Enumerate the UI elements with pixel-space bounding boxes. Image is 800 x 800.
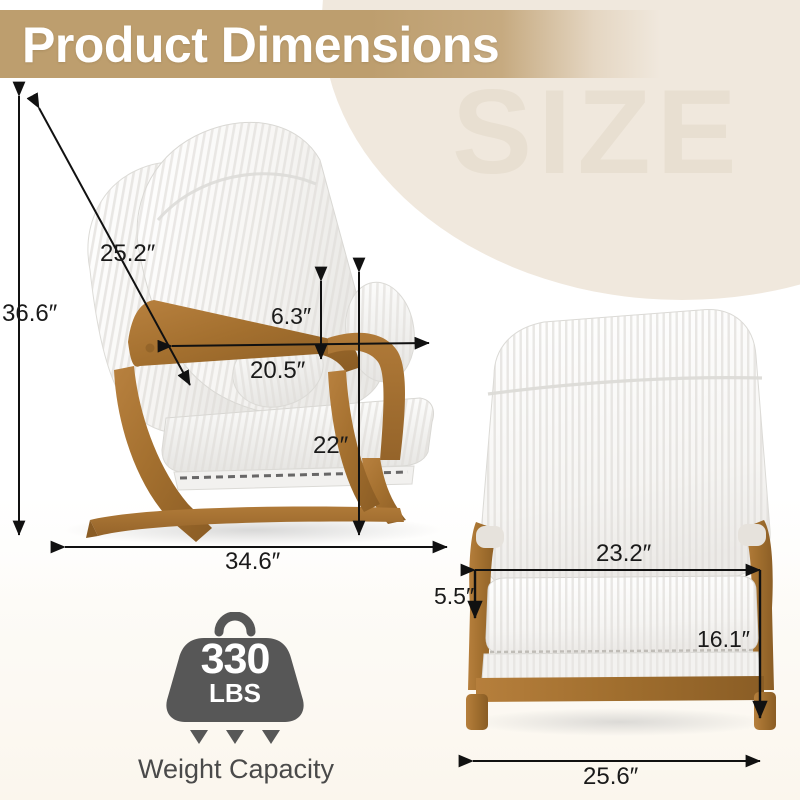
weight-capacity-unit: LBS (120, 680, 350, 706)
dim-arm-to-seat-height: 6.3″ (271, 303, 311, 330)
chair-front-view (448, 290, 788, 740)
dim-seat-width: 23.2″ (596, 540, 651, 568)
dim-cushion-thickness: 5.5″ (434, 583, 474, 610)
dim-backrest-height: 25.2″ (100, 240, 155, 268)
chair-side-view (28, 80, 448, 550)
size-watermark-text: SIZE (452, 72, 743, 192)
dim-overall-height: 36.6″ (2, 300, 57, 328)
weight-capacity-number: 330 (120, 638, 350, 681)
dim-seat-height: 16.1″ (697, 626, 750, 653)
weight-capacity-block: 330 LBS Weight Capacity (120, 612, 420, 792)
weight-capacity-caption: Weight Capacity (102, 756, 370, 783)
dim-overall-depth: 34.6″ (225, 548, 280, 576)
dim-arm-height: 22″ (313, 432, 348, 460)
page-title: Product Dimensions (22, 16, 499, 74)
dim-seat-depth: 20.5″ (250, 357, 305, 385)
infographic-canvas: SIZE Product Dimensions (0, 0, 800, 800)
dim-overall-width: 25.6″ (583, 763, 638, 791)
